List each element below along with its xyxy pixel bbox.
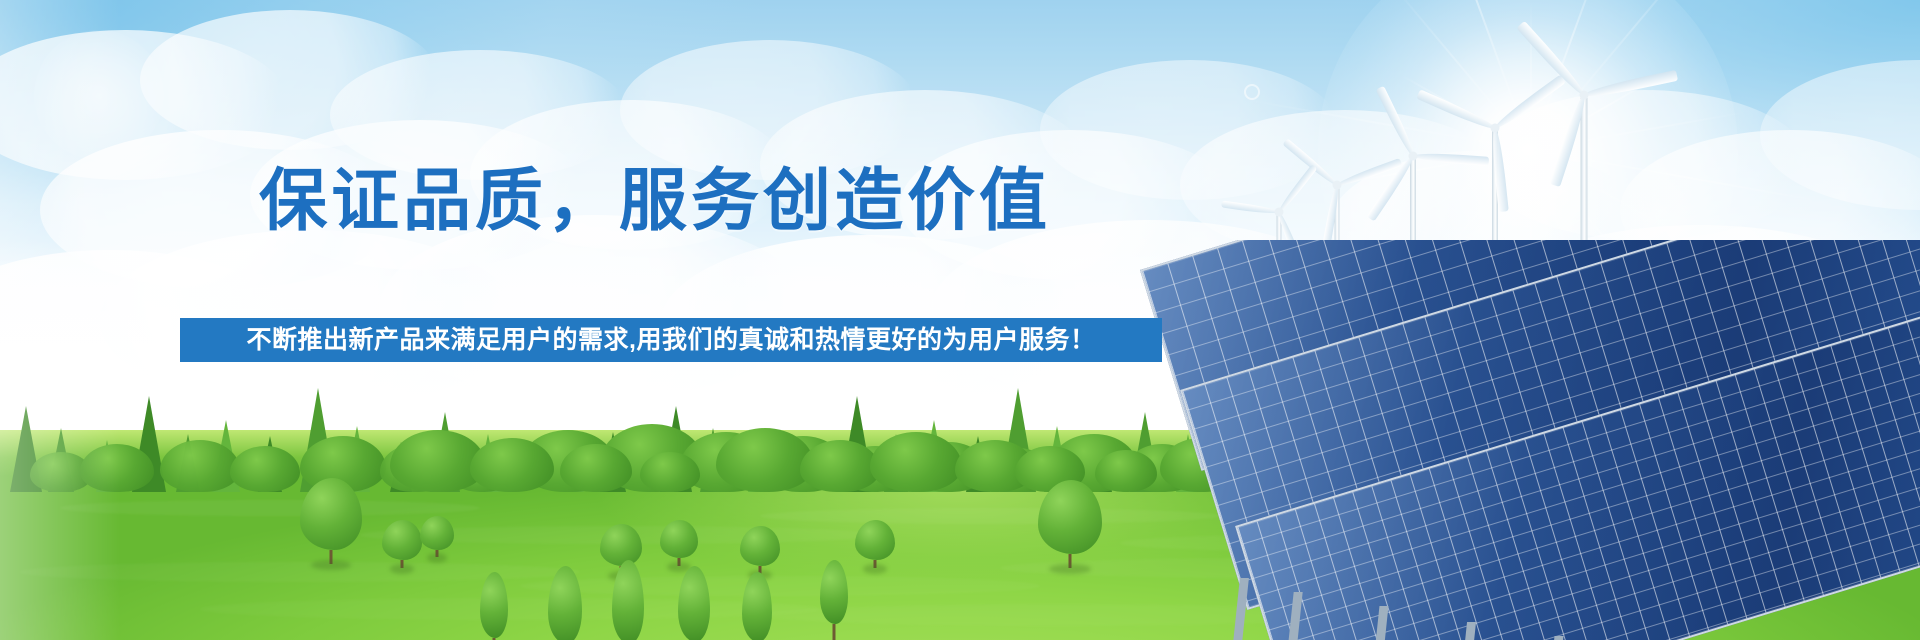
round-tree: [640, 452, 700, 492]
field-tree: [660, 520, 698, 566]
tree-trunk: [833, 624, 836, 640]
tree-crown: [300, 478, 362, 550]
turbine-blade: [1376, 86, 1417, 158]
field-tree: [300, 478, 362, 564]
round-tree: [80, 444, 154, 492]
field-tree: [740, 526, 780, 574]
tree-crown: [382, 520, 422, 560]
tree-crown: [420, 516, 454, 550]
tree-shadow: [427, 553, 447, 563]
round-tree: [800, 440, 880, 492]
turbine-hub: [1580, 91, 1589, 100]
field-tree: [420, 516, 454, 557]
grass-stripe: [60, 500, 480, 516]
grass-stripe: [520, 576, 1040, 596]
tree-crown: [742, 572, 772, 640]
field-tree: [855, 520, 895, 568]
subtitle-banner: 不断推出新产品来满足用户的需求,用我们的真诚和热情更好的为用户服务！: [180, 318, 1162, 362]
solar-panel-array: [1140, 240, 1920, 640]
field-tree: [742, 572, 772, 640]
tree-crown: [678, 566, 710, 640]
grass-stripe: [200, 598, 820, 620]
tree-crown: [820, 560, 848, 624]
round-tree: [160, 440, 240, 492]
round-tree: [560, 444, 632, 492]
round-tree: [470, 438, 554, 492]
hero-banner: 保证品质，服务创造价值 不断推出新产品来满足用户的需求,用我们的真诚和热情更好的…: [0, 0, 1920, 640]
tree-crown: [480, 572, 508, 638]
turbine-hub: [1491, 124, 1500, 133]
tree-crown: [740, 526, 780, 566]
field-tree: [382, 520, 422, 568]
tree-crown: [1038, 480, 1102, 554]
round-tree: [870, 432, 962, 492]
tree-crown: [660, 520, 698, 558]
tree-shadow: [311, 560, 351, 570]
tree-shadow: [863, 564, 887, 574]
tree-shadow: [390, 564, 414, 574]
turbine-blade: [1413, 152, 1489, 166]
turbine-hub: [1333, 181, 1342, 190]
field-tree: [612, 560, 644, 640]
turbine-blade: [1416, 89, 1497, 132]
turbine-blade: [1492, 75, 1566, 132]
tree-crown: [548, 566, 582, 640]
turbine-hub: [1409, 152, 1418, 161]
page-title: 保证品质，服务创造价值: [0, 165, 1310, 237]
field-tree: [678, 566, 710, 640]
round-tree: [230, 446, 300, 492]
tree-crown: [612, 560, 644, 640]
tree-shadow: [1049, 564, 1091, 574]
tree-crown: [855, 520, 895, 560]
field-tree: [820, 560, 848, 640]
subtitle-text: 不断推出新产品来满足用户的需求,用我们的真诚和热情更好的为用户服务！: [247, 325, 1096, 355]
field-tree: [548, 566, 582, 640]
field-tree: [480, 572, 508, 640]
turbine-blade: [1583, 70, 1678, 101]
field-tree: [1038, 480, 1102, 568]
